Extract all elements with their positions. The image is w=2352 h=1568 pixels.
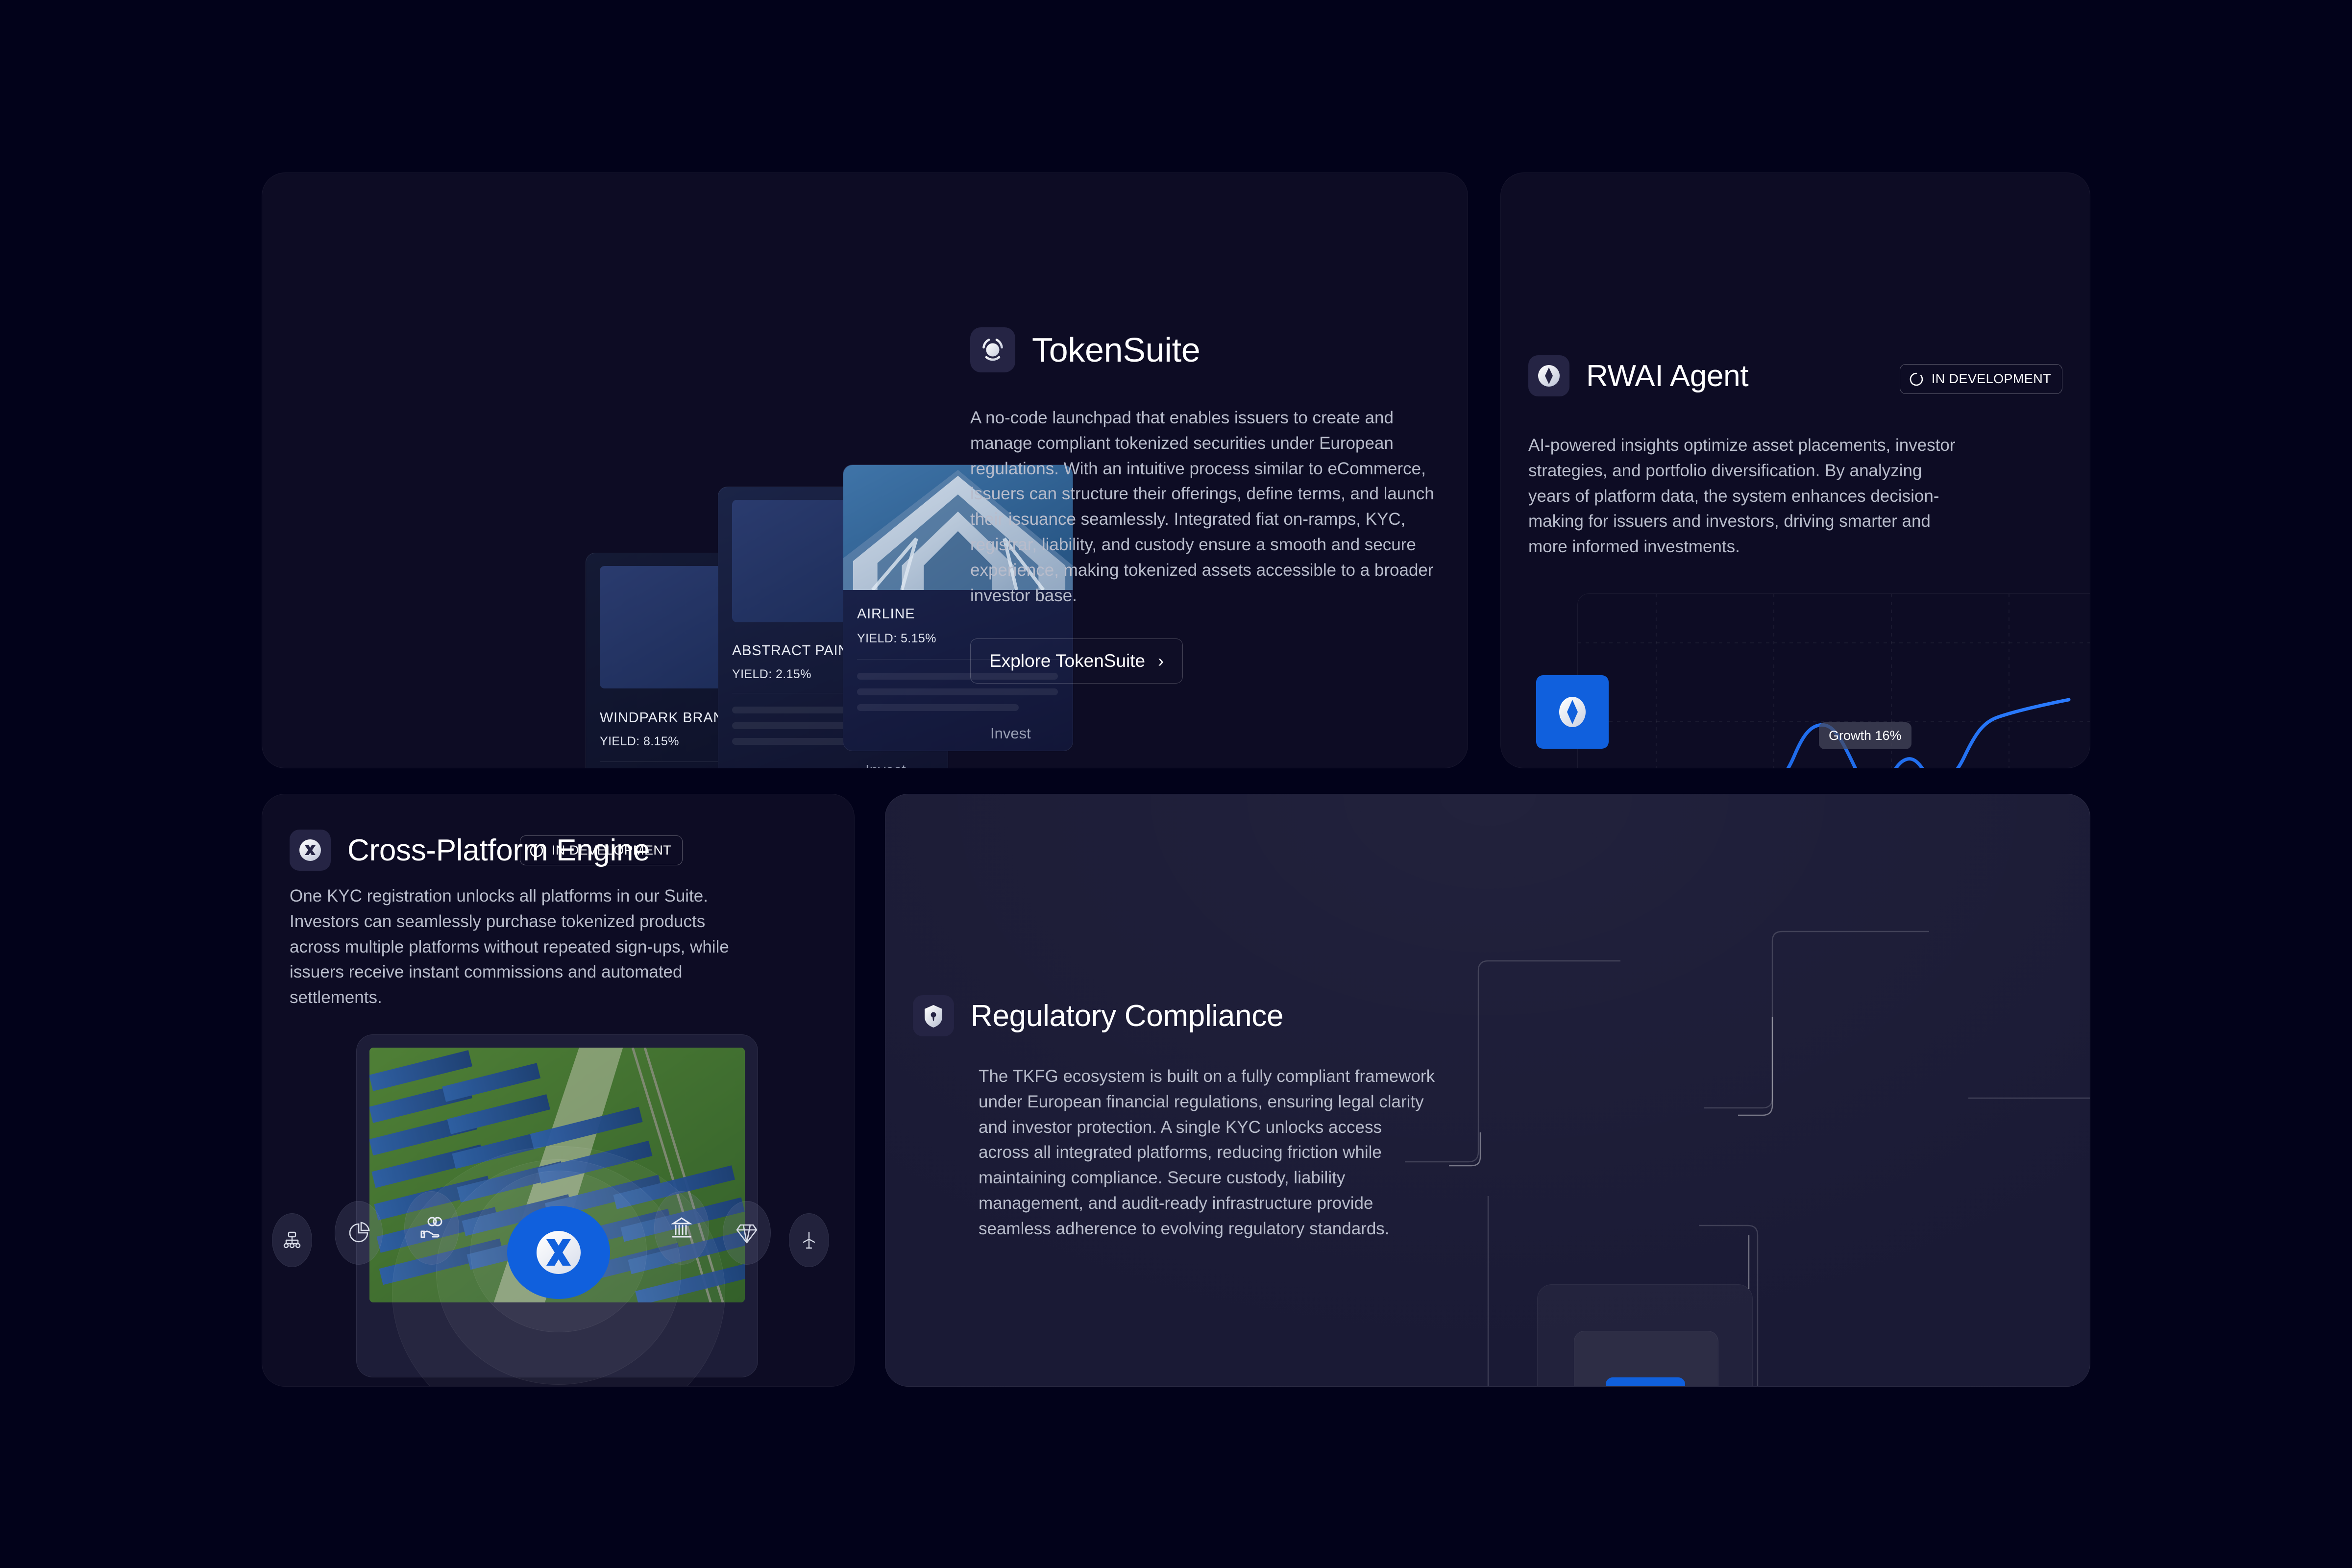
- tokensuite-header: TokenSuite: [970, 327, 1441, 372]
- page-title-tokensuite: TokenSuite: [1032, 330, 1200, 369]
- wind-turbine-icon[interactable]: [789, 1213, 829, 1267]
- card-regulatory-compliance: Regulatory Compliance The TKFG ecosystem…: [885, 794, 2090, 1387]
- explore-tokensuite-button[interactable]: Explore TokenSuite ›: [970, 638, 1183, 684]
- card-cross-platform-engine: Cross-Platform Engine IN DEVELOPMENT One…: [262, 794, 855, 1387]
- cross-platform-x-icon: [290, 830, 331, 871]
- chevron-right-icon: ›: [1158, 652, 1164, 670]
- explore-tokensuite-label: Explore TokenSuite: [989, 651, 1145, 671]
- regulatory-header: Regulatory Compliance: [913, 995, 1283, 1036]
- status-badge-label: IN DEVELOPMENT: [1932, 371, 2051, 387]
- pie-chart-icon[interactable]: [335, 1201, 383, 1265]
- status-badge-label: IN DEVELOPMENT: [552, 843, 671, 858]
- chart-tooltip: Growth 16%: [1819, 722, 1911, 749]
- bank-icon[interactable]: [654, 1191, 709, 1265]
- shield-keyhole-icon: [913, 995, 954, 1036]
- spinner-icon: [529, 843, 544, 858]
- asset-yield: YIELD: 2.15%: [732, 667, 811, 682]
- rwai-growth-chart: Growth 16%: [1577, 593, 2090, 768]
- status-badge-crossplatform: IN DEVELOPMENT: [520, 835, 683, 865]
- shield-keyhole-tile-icon: [1606, 1377, 1685, 1387]
- tokensuite-description: A no-code launchpad that enables issuers…: [970, 405, 1438, 608]
- rwai-diamond-tile-icon: [1536, 675, 1609, 749]
- spinner-icon: [1909, 372, 1924, 387]
- asset-yield: YIELD: 8.15%: [600, 735, 679, 749]
- org-chart-icon[interactable]: [272, 1213, 312, 1267]
- chart-tooltip-label: Growth 16%: [1829, 728, 1902, 743]
- page-title-rwai: RWAI Agent: [1586, 359, 1748, 393]
- skeleton-line: [732, 738, 850, 745]
- hand-coins-icon[interactable]: [404, 1191, 459, 1265]
- card-rwai-agent: RWAI Agent IN DEVELOPMENT AI-powered ins…: [1500, 172, 2090, 768]
- page-title-regulatory: Regulatory Compliance: [971, 999, 1283, 1033]
- asset-yield: YIELD: 5.15%: [857, 632, 936, 646]
- status-badge-rwai: IN DEVELOPMENT: [1900, 364, 2062, 394]
- skeleton-line: [857, 704, 1019, 711]
- asset-invest-label[interactable]: Invest: [865, 761, 906, 768]
- asset-invest-label[interactable]: Invest: [990, 725, 1031, 742]
- regulatory-description: The TKFG ecosystem is built on a fully c…: [979, 1064, 1437, 1242]
- rwai-diamond-icon: [1528, 355, 1569, 396]
- rwai-description: AI-powered insights optimize asset place…: [1528, 433, 1960, 560]
- card-tokensuite: WINDPARK BRANDENBURG YIELD: 8.15% Invest…: [262, 172, 1468, 768]
- crossplatform-description: One KYC registration unlocks all platfor…: [290, 883, 745, 1010]
- tokensuite-logo-icon: [970, 327, 1015, 372]
- feature-cards-page: WINDPARK BRANDENBURG YIELD: 8.15% Invest…: [0, 0, 2352, 1568]
- diamond-gem-icon[interactable]: [723, 1201, 771, 1265]
- asset-name: AIRLINE: [857, 606, 915, 622]
- cross-platform-x-hub-icon[interactable]: [507, 1206, 610, 1299]
- skeleton-line: [857, 688, 1058, 695]
- rwai-header: RWAI Agent: [1528, 355, 1748, 396]
